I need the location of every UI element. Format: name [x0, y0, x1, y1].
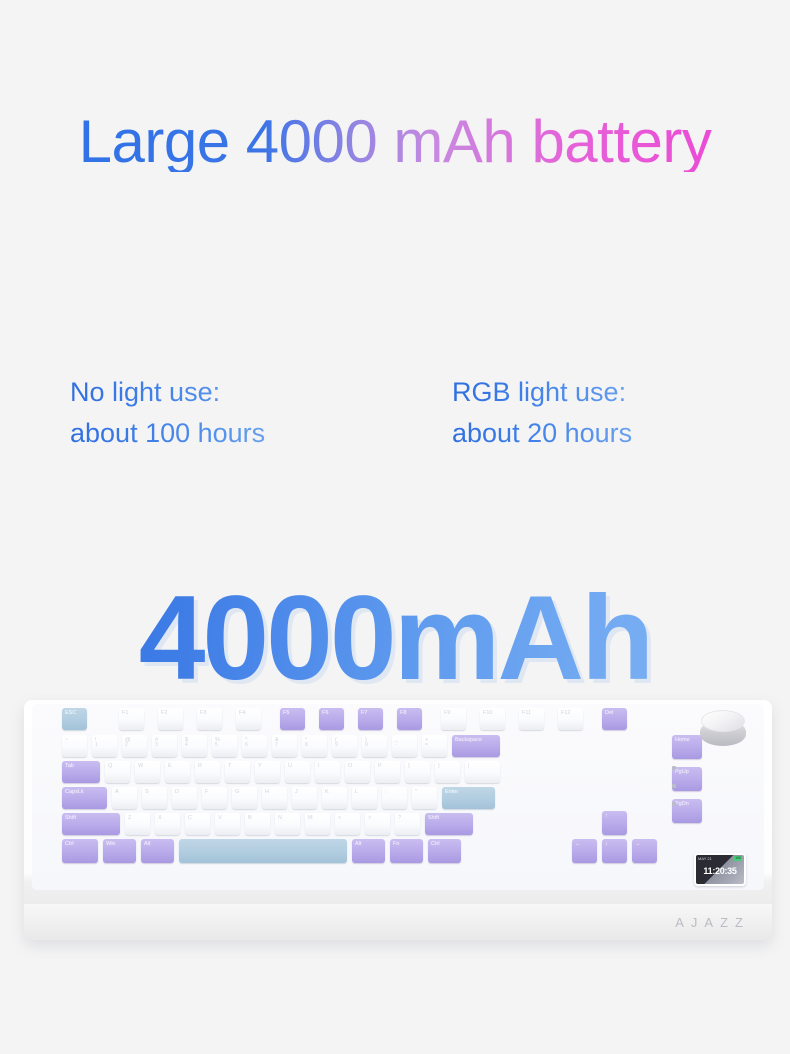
keycap[interactable]: F2: [158, 708, 183, 730]
keycap[interactable]: F6: [319, 708, 344, 730]
keycap[interactable]: F: [202, 787, 227, 809]
keycap[interactable]: L: [352, 787, 377, 809]
keycap[interactable]: }: [435, 761, 460, 783]
keycap[interactable]: X: [155, 813, 180, 835]
capacity-display-text: 4000mAh: [0, 578, 790, 698]
keycap[interactable]: T: [225, 761, 250, 783]
rotary-knob[interactable]: [700, 710, 746, 750]
keycap[interactable]: S: [142, 787, 167, 809]
keycap[interactable]: M: [305, 813, 330, 835]
keycap[interactable]: &7: [272, 735, 297, 757]
keycap[interactable]: Ctrl: [428, 839, 461, 863]
keycap[interactable]: F7: [358, 708, 383, 730]
keycap[interactable]: !1: [92, 735, 117, 757]
spec-no-light-value: about 100 hours: [70, 413, 265, 454]
keycap[interactable]: K: [322, 787, 347, 809]
spec-rgb-light-use: RGB light use: about 20 hours: [452, 372, 632, 454]
keycap[interactable]: O: [345, 761, 370, 783]
lcd-date-label: MAY 21: [698, 856, 712, 861]
keycap[interactable]: Alt: [141, 839, 174, 863]
battery-spec-group: No light use: about 100 hours RGB light …: [0, 372, 790, 482]
keycap[interactable]: F4: [236, 708, 261, 730]
keycap[interactable]: F5: [280, 708, 305, 730]
lcd-screen: MAY 21 100 11:20:35: [696, 855, 744, 884]
spec-no-light-label: No light use:: [70, 372, 265, 413]
keycap[interactable]: $4: [182, 735, 207, 757]
keycap[interactable]: Fn: [390, 839, 423, 863]
keycap[interactable]: F8: [397, 708, 422, 730]
keycap[interactable]: F9: [441, 708, 466, 730]
keycap[interactable]: [179, 839, 347, 863]
keycap[interactable]: Home: [672, 735, 702, 759]
keyboard-product-image: ESCF1F2F3F4F5F6F7F8F9F10F11F12Del~`!1@2#…: [24, 700, 772, 940]
keycap[interactable]: F11: [519, 708, 544, 730]
keycap[interactable]: U: [285, 761, 310, 783]
keycap[interactable]: Q: [105, 761, 130, 783]
keycap[interactable]: ": [412, 787, 437, 809]
keycap[interactable]: H: [262, 787, 287, 809]
keycap[interactable]: D: [172, 787, 197, 809]
keycap[interactable]: )0: [362, 735, 387, 757]
keycap[interactable]: E: [165, 761, 190, 783]
keycap[interactable]: J: [292, 787, 317, 809]
keycap[interactable]: F3: [197, 708, 222, 730]
keycap[interactable]: F12: [558, 708, 583, 730]
indicator-dot: [672, 766, 676, 770]
keycap[interactable]: :: [382, 787, 407, 809]
keycap[interactable]: Backspace: [452, 735, 500, 757]
keycap[interactable]: F10: [480, 708, 505, 730]
keycap[interactable]: Tab: [62, 761, 100, 783]
keycap[interactable]: W: [135, 761, 160, 783]
keycap[interactable]: Alt: [352, 839, 385, 863]
spec-rgb-light-label: RGB light use:: [452, 372, 632, 413]
keycap[interactable]: ←: [572, 839, 597, 863]
keycap[interactable]: ^6: [242, 735, 267, 757]
keycap[interactable]: A: [112, 787, 137, 809]
keycap[interactable]: F1: [119, 708, 144, 730]
keycap[interactable]: R: [195, 761, 220, 783]
keycap[interactable]: G: [232, 787, 257, 809]
keycap[interactable]: {: [405, 761, 430, 783]
keycap[interactable]: +=: [422, 735, 447, 757]
keycap[interactable]: B: [245, 813, 270, 835]
keycap[interactable]: Enter: [442, 787, 495, 809]
indicator-dot: [672, 802, 676, 806]
keycap[interactable]: ~`: [62, 735, 87, 757]
keycap[interactable]: *8: [302, 735, 327, 757]
spec-rgb-light-value: about 20 hours: [452, 413, 632, 454]
keycap[interactable]: ESC: [62, 708, 87, 730]
keycap[interactable]: >: [365, 813, 390, 835]
keycap[interactable]: Shift: [425, 813, 473, 835]
keycap[interactable]: ↑: [602, 811, 627, 835]
lcd-status-bar: MAY 21 100: [698, 856, 742, 861]
keycap[interactable]: Del: [602, 708, 627, 730]
capacity-display: 4000mAh 4000mAh: [0, 578, 790, 708]
knob-top: [701, 710, 745, 732]
keycap[interactable]: ?: [395, 813, 420, 835]
indicator-dot: [672, 784, 676, 788]
battery-icon: 100: [734, 856, 742, 861]
keycap[interactable]: Y: [255, 761, 280, 783]
keycap[interactable]: Ctrl: [62, 839, 98, 863]
keycap[interactable]: CapsLk: [62, 787, 107, 809]
keycap[interactable]: Shift: [62, 813, 120, 835]
keycap[interactable]: (9: [332, 735, 357, 757]
keycap[interactable]: #3: [152, 735, 177, 757]
lcd-screen-module[interactable]: MAY 21 100 11:20:35: [694, 853, 746, 886]
lcd-time: 11:20:35: [696, 866, 744, 876]
keycap[interactable]: @2: [122, 735, 147, 757]
keyboard-front-bezel: [24, 904, 772, 940]
keycap[interactable]: <: [335, 813, 360, 835]
keycap[interactable]: %5: [212, 735, 237, 757]
brand-logo: AJAZZ: [675, 915, 750, 930]
keycap[interactable]: Z: [125, 813, 150, 835]
keycap[interactable]: C: [185, 813, 210, 835]
keycap[interactable]: →: [632, 839, 657, 863]
spec-no-light-use: No light use: about 100 hours: [70, 372, 265, 454]
keyboard-plate: ESCF1F2F3F4F5F6F7F8F9F10F11F12Del~`!1@2#…: [32, 704, 764, 890]
keycap[interactable]: P: [375, 761, 400, 783]
keycap[interactable]: |: [465, 761, 500, 783]
keycap[interactable]: Win: [103, 839, 136, 863]
page-title: Large 4000 mAh battery: [0, 112, 790, 172]
keycap[interactable]: _-: [392, 735, 417, 757]
indicator-dots: [670, 766, 680, 830]
keycap[interactable]: I: [315, 761, 340, 783]
keycap[interactable]: N: [275, 813, 300, 835]
keycap[interactable]: V: [215, 813, 240, 835]
keycap[interactable]: ↓: [602, 839, 627, 863]
